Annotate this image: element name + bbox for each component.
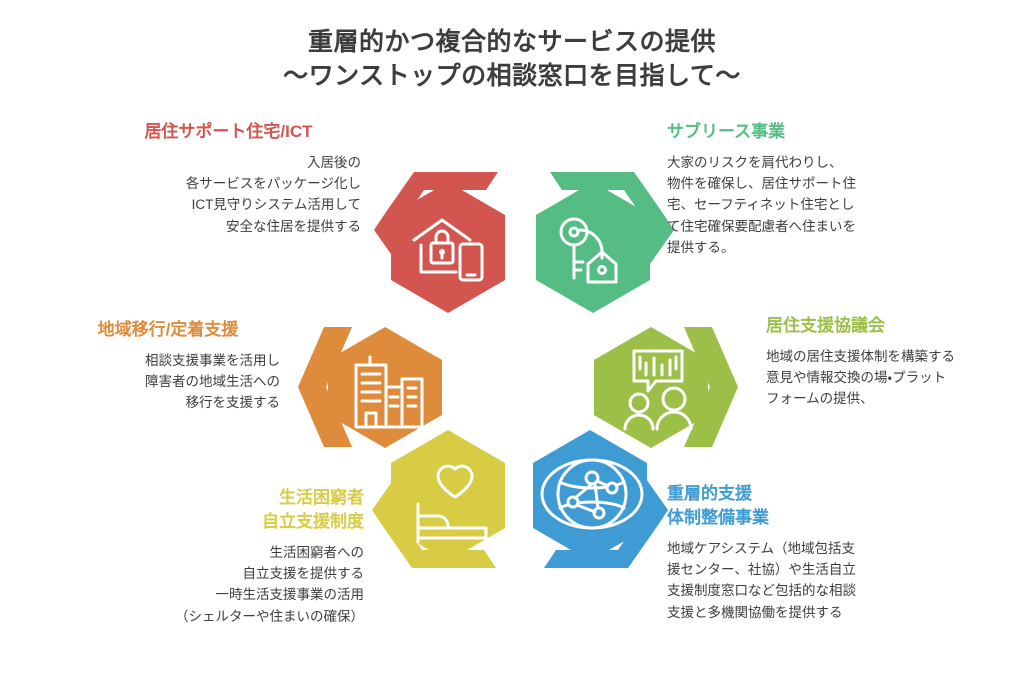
- infographic-canvas: 重層的かつ複合的なサービスの提供 〜ワンストップの相談窓口を目指して〜: [0, 0, 1024, 678]
- node-body-needy: 生活困窮者への 自立支援を提供する 一時生活支援事業の活用 （シェルターや住まい…: [96, 542, 364, 627]
- node-heading-sublease: サブリース事業: [667, 120, 935, 144]
- node-text-housing-ict: 居住サポート住宅/ICT 入居後の 各サービスをパッケージ化し ICT見守りシス…: [96, 120, 361, 237]
- node-heading-council: 居住支援協議会: [766, 314, 1016, 338]
- node-heading-regional: 地域移行/定着支援: [56, 318, 280, 342]
- node-text-regional: 地域移行/定着支援 相談支援事業を活用し 障害者の地域生活への 移行を支援する: [56, 318, 280, 414]
- page-title: 重層的かつ複合的なサービスの提供 〜ワンストップの相談窓口を目指して〜: [0, 26, 1024, 93]
- node-heading-housing-ict: 居住サポート住宅/ICT: [96, 120, 361, 144]
- node-graphic-housing-ict[interactable]: [370, 152, 530, 317]
- node-body-housing-ict: 入居後の 各サービスをパッケージ化し ICT見守りシステム活用して 安全な住居を…: [96, 152, 361, 237]
- node-graphic-layered[interactable]: [512, 424, 672, 589]
- title-line-2: 〜ワンストップの相談窓口を目指して〜: [0, 60, 1024, 94]
- node-body-layered: 地域ケアシステム（地域包括支 援センター、社協）や生活自立 支援制度窓口など包括…: [667, 538, 945, 623]
- node-text-needy: 生活困窮者 自立支援制度 生活困窮者への 自立支援を提供する 一時生活支援事業の…: [96, 486, 364, 627]
- node-body-council: 地域の居住支援体制を構築する 意見や情報交換の場・プラット フォームの提供、: [766, 346, 1016, 410]
- node-graphic-needy[interactable]: [368, 424, 528, 589]
- node-text-council: 居住支援協議会 地域の居住支援体制を構築する 意見や情報交換の場・プラット フォ…: [766, 314, 1016, 410]
- node-graphic-sublease[interactable]: [518, 152, 678, 317]
- node-body-sublease: 大家のリスクを肩代わりし、 物件を確保し、居住サポート住 宅、セーフティネット住…: [667, 152, 935, 259]
- node-heading-layered: 重層的支援 体制整備事業: [667, 482, 945, 530]
- node-text-layered: 重層的支援 体制整備事業 地域ケアシステム（地域包括支 援センター、社協）や生活…: [667, 482, 945, 623]
- title-line-1: 重層的かつ複合的なサービスの提供: [0, 26, 1024, 60]
- node-body-regional: 相談支援事業を活用し 障害者の地域生活への 移行を支援する: [56, 350, 280, 414]
- node-heading-needy: 生活困窮者 自立支援制度: [96, 486, 364, 534]
- node-text-sublease: サブリース事業 大家のリスクを肩代わりし、 物件を確保し、居住サポート住 宅、セ…: [667, 120, 935, 258]
